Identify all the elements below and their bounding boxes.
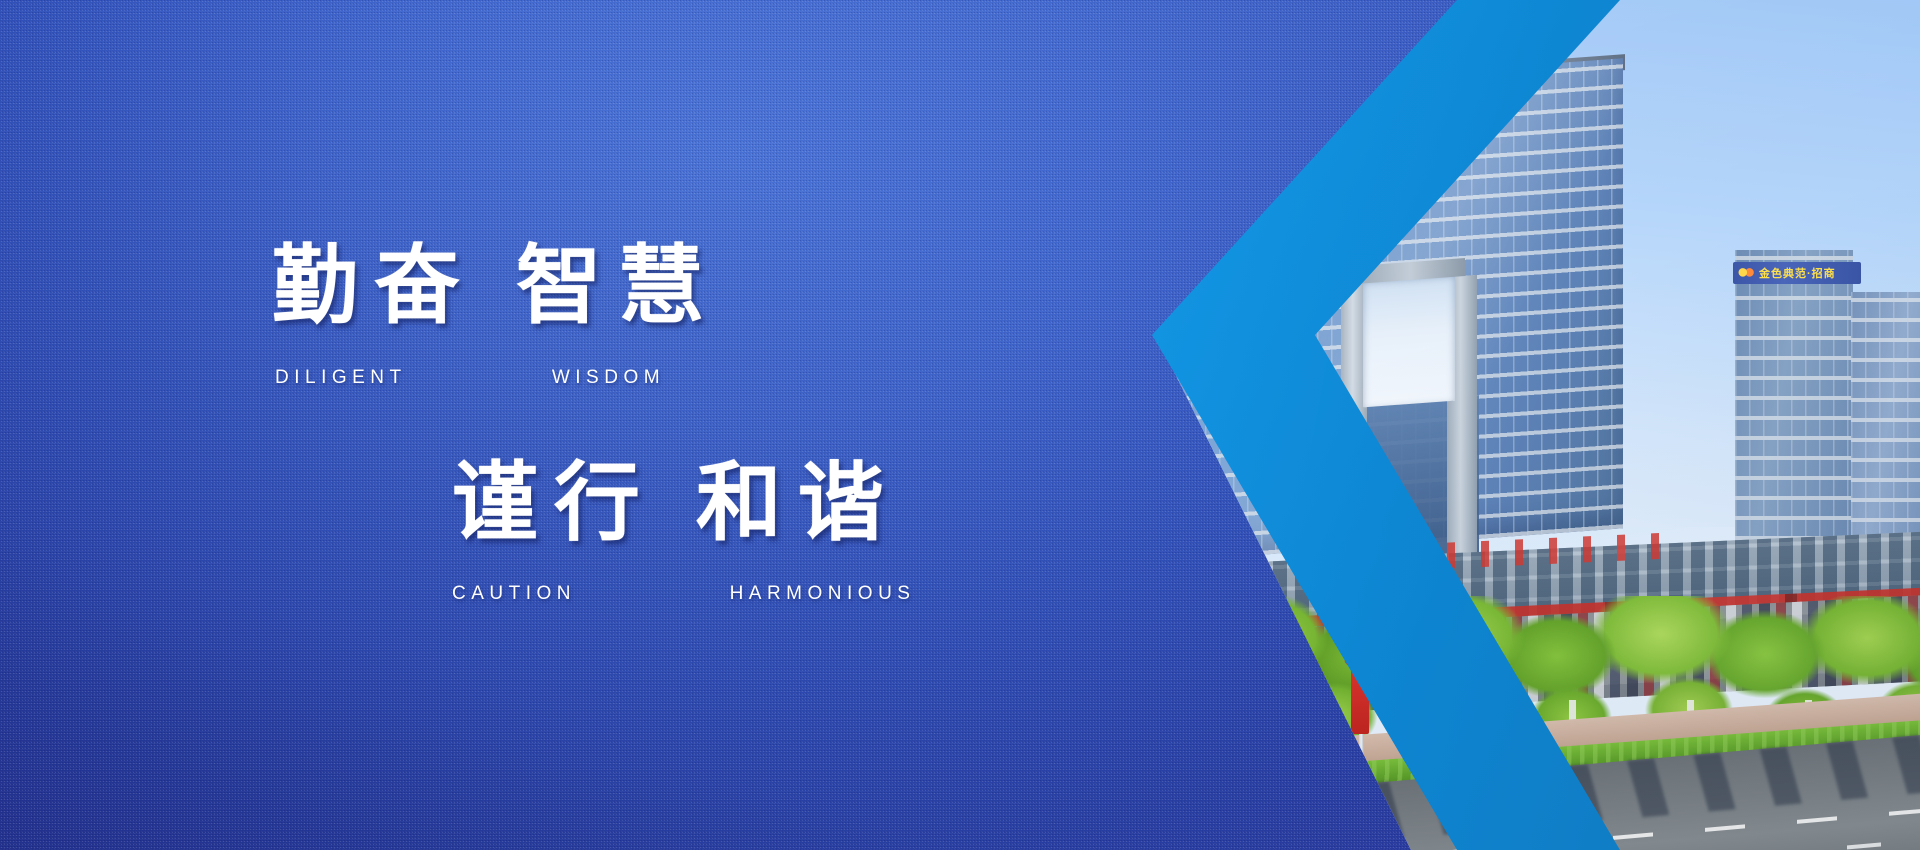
slogan-line-1-cn: 勤奋 智慧 — [272, 243, 720, 329]
slogan-line-2-en-right: HARMONIOUS — [730, 583, 916, 604]
slogan-line-1-en: DILIGENT WISDOM — [275, 367, 665, 389]
slogan-line-1-en-right: WISDOM — [552, 367, 665, 388]
slogan-line-1-en-left: DILIGENT — [275, 367, 406, 388]
slogan-block: 勤奋 智慧 DILIGENT WISDOM 谨行 和谐 CAUTION HARM… — [0, 0, 1000, 850]
slogan-line-2-en-left: CAUTION — [452, 583, 576, 604]
slogan-line-2-cn: 谨行 和谐 — [452, 460, 900, 546]
culture-banner: 江苏国泰 金色典范·招商 — [0, 0, 1920, 850]
slogan-line-2-en: CAUTION HARMONIOUS — [452, 583, 915, 605]
